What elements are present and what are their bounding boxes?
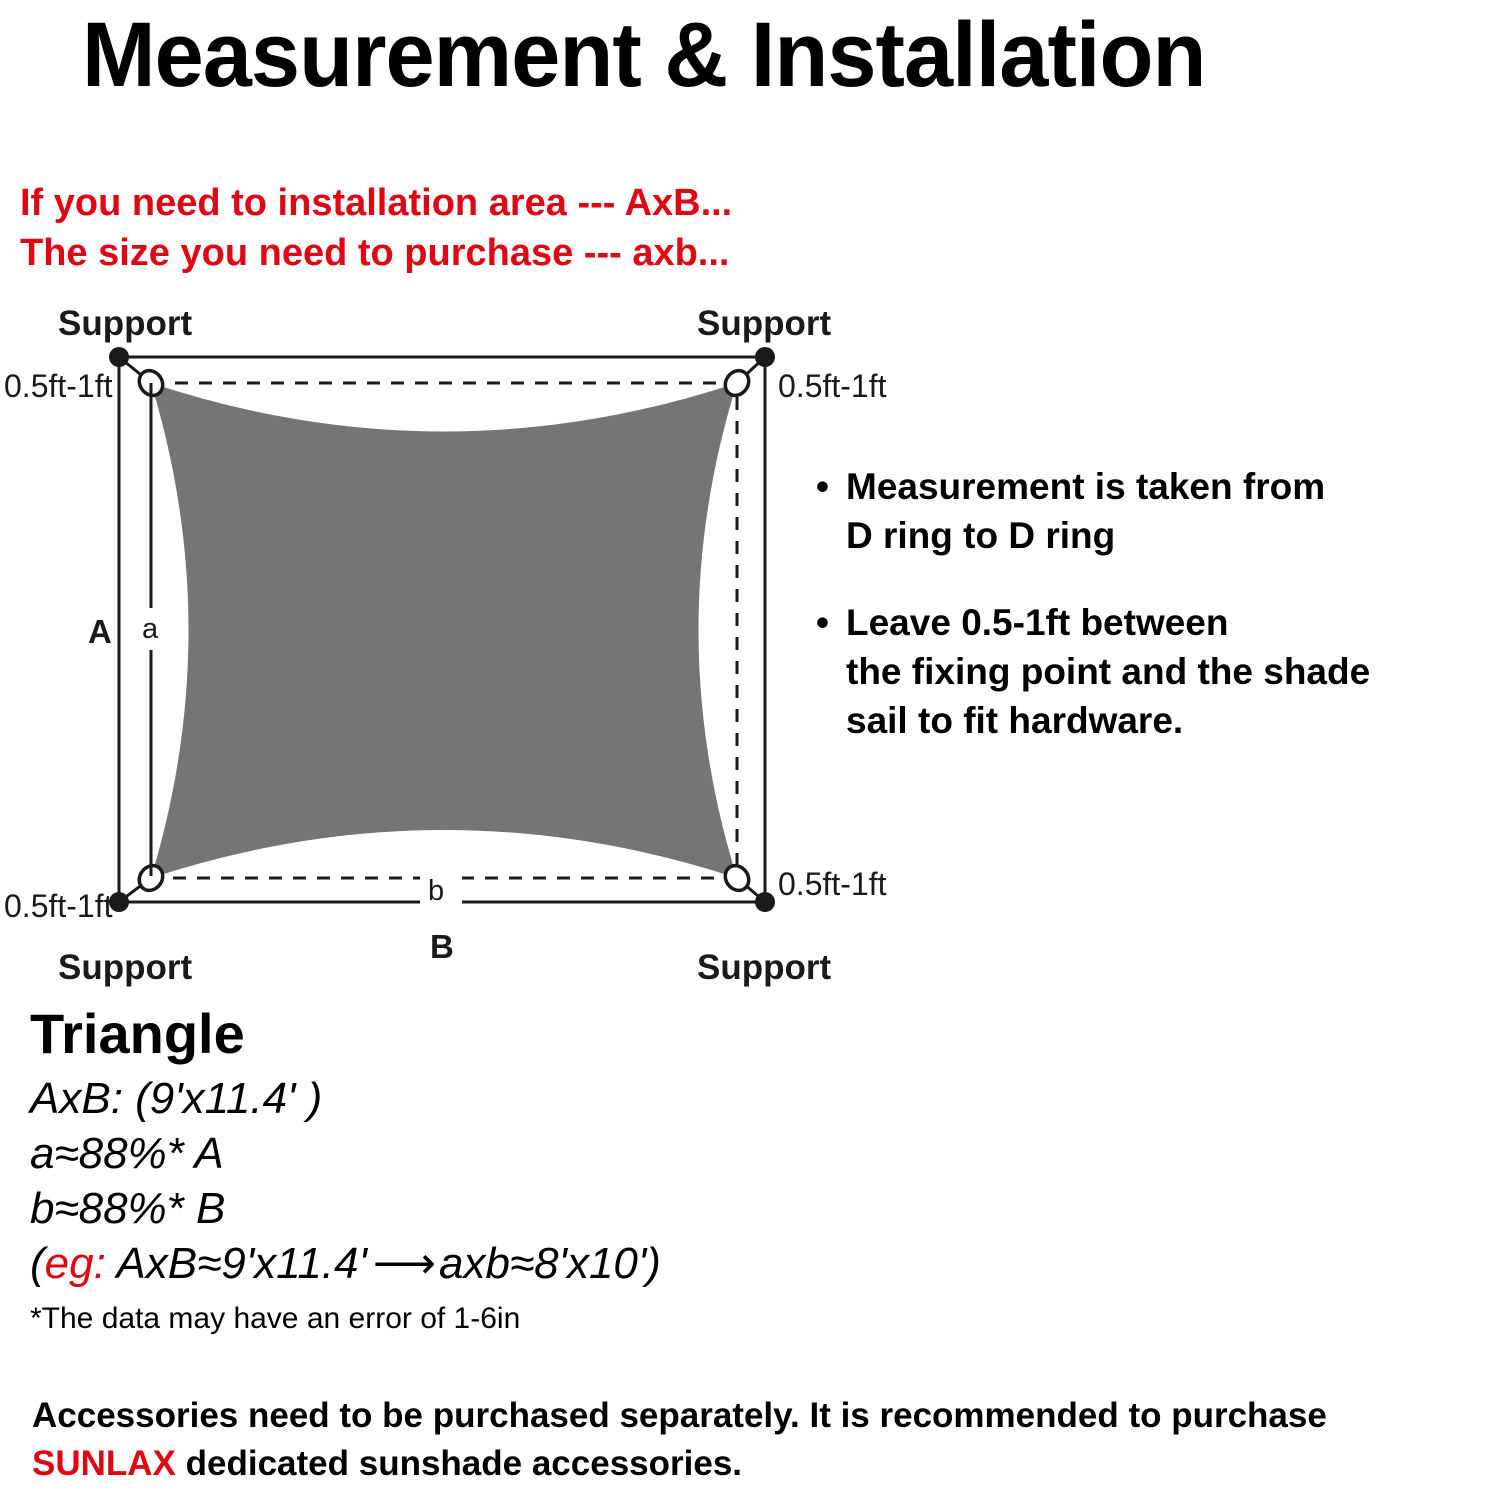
formula-a-percent: a≈88%* A	[30, 1126, 860, 1181]
right-arrow-icon: ⟶	[367, 1239, 439, 1288]
bullet-2-line-1: Leave 0.5-1ft between	[846, 598, 1492, 647]
support-point-top-right	[755, 347, 775, 367]
intro-text-block: If you need to installation area --- AxB…	[20, 178, 732, 278]
bullet-dot-icon: •	[816, 598, 829, 647]
page-title: Measurement & Installation	[82, 5, 1388, 105]
formula-example: (eg: AxB≈9'x11.4'⟶axb≈8'x10')	[30, 1236, 860, 1291]
bullet-1-line-2: D ring to D ring	[846, 511, 1492, 560]
support-label-bottom-left: Support	[58, 948, 192, 988]
brand-name-sunlax: SUNLAX	[32, 1444, 176, 1483]
dimension-label-A: A	[88, 613, 112, 651]
triangle-heading: Triangle	[30, 1003, 860, 1065]
dimension-label-b: b	[428, 875, 444, 908]
instruction-bullet-list: • Measurement is taken from D ring to D …	[812, 462, 1492, 783]
support-point-bottom-right	[755, 892, 775, 912]
intro-line-purchase-size: The size you need to purchase --- axb...	[20, 228, 732, 278]
footer-line-1: Accessories need to be purchased separat…	[32, 1392, 1492, 1440]
bullet-1-line-1: Measurement is taken from	[846, 462, 1492, 511]
list-item: • Leave 0.5-1ft between the fixing point…	[812, 598, 1492, 745]
triangle-sizing-section: Triangle AxB: (9'x11.4' ) a≈88%* A b≈88%…	[30, 1003, 860, 1339]
example-eg-label: eg:	[45, 1239, 106, 1288]
support-point-top-left	[109, 347, 129, 367]
bullet-2-line-2: the fixing point and the shade	[846, 647, 1492, 696]
support-label-top-right: Support	[697, 304, 831, 344]
example-right-side: axb≈8'x10')	[439, 1239, 661, 1288]
formula-b-percent: b≈88%* B	[30, 1181, 860, 1236]
shade-sail-shape	[151, 383, 737, 878]
footer-line-2-tail: dedicated sunshade accessories.	[176, 1444, 742, 1483]
support-label-top-left: Support	[58, 304, 192, 344]
list-item: • Measurement is taken from D ring to D …	[812, 462, 1492, 560]
footer-line-2: SUNLAX dedicated sunshade accessories.	[32, 1440, 1492, 1488]
gap-label-top-right: 0.5ft-1ft	[778, 368, 887, 405]
support-label-bottom-right: Support	[697, 948, 831, 988]
dimension-label-B: B	[430, 928, 454, 966]
bullet-dot-icon: •	[816, 462, 829, 511]
intro-line-installation-area: If you need to installation area --- AxB…	[20, 178, 732, 228]
example-left-side: AxB≈9'x11.4'	[106, 1239, 367, 1288]
dimension-label-a: a	[142, 613, 158, 646]
gap-label-bottom-left: 0.5ft-1ft	[4, 888, 113, 925]
bullet-2-line-3: sail to fit hardware.	[846, 696, 1492, 745]
gap-label-top-left: 0.5ft-1ft	[4, 368, 113, 405]
example-open-paren: (	[30, 1239, 45, 1288]
gap-label-bottom-right: 0.5ft-1ft	[778, 866, 887, 903]
formula-axb-dimensions: AxB: (9'x11.4' )	[30, 1071, 860, 1126]
accessories-footer-note: Accessories need to be purchased separat…	[32, 1392, 1492, 1488]
error-tolerance-note: *The data may have an error of 1-6in	[30, 1299, 860, 1339]
